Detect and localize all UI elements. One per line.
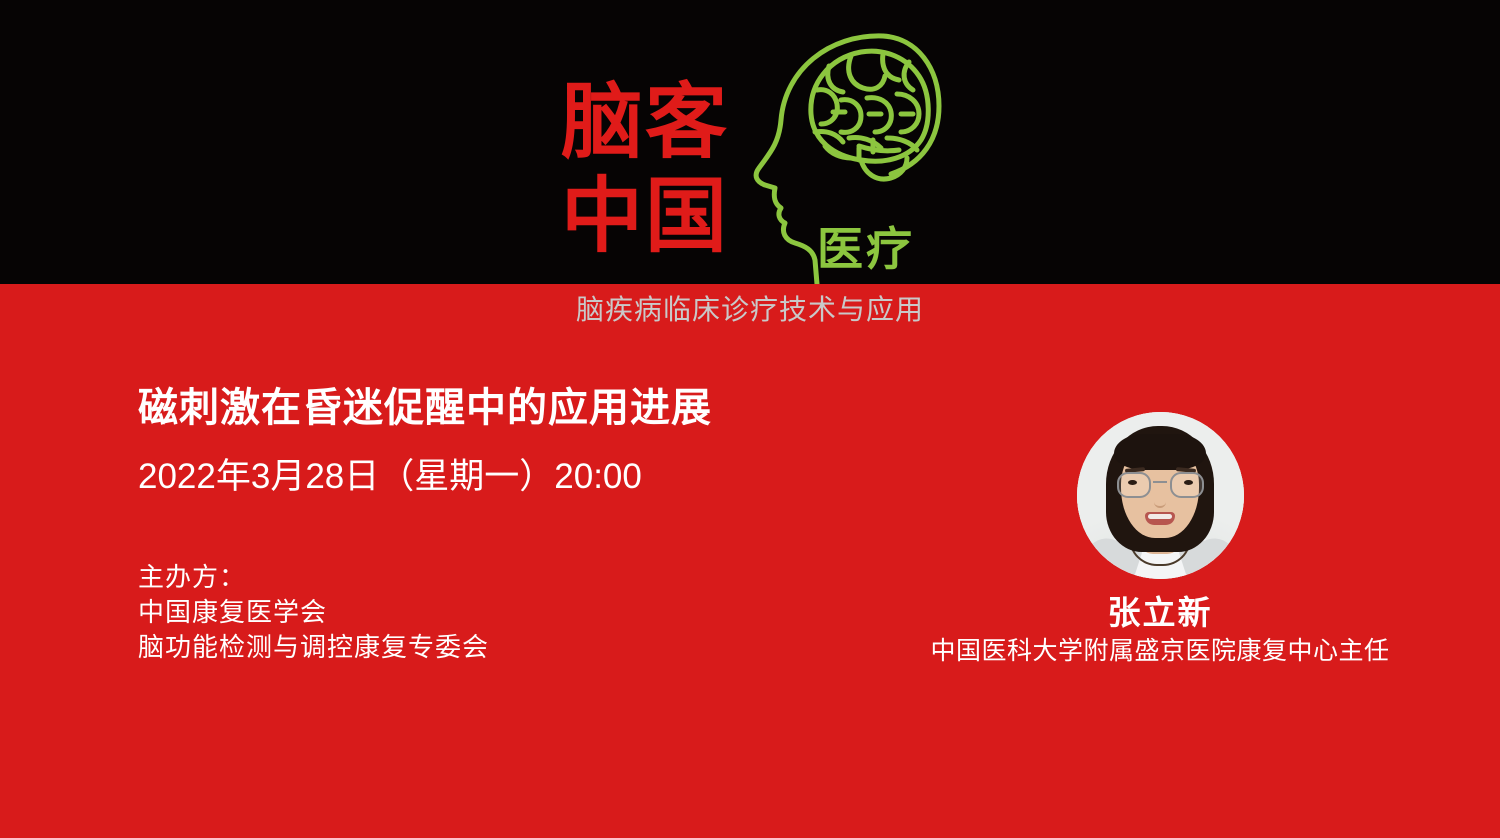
organizer-label: 主办方： (138, 560, 489, 595)
portrait-eyeglass-right (1170, 472, 1204, 498)
portrait-teeth (1148, 514, 1172, 519)
organizer-line-1: 中国康复医学会 (138, 595, 489, 630)
avatar (1077, 412, 1244, 579)
series-subtitle: 脑疾病临床诊疗技术与应用 (0, 292, 1500, 328)
brand-logo-lockup: 脑客 中国 (555, 28, 945, 284)
brand-word-line1: 脑客 (561, 80, 729, 166)
talk-datetime: 2022年3月28日（星期一）20:00 (138, 455, 642, 499)
speaker-name: 张立新 (900, 593, 1420, 633)
speaker-block: 张立新 中国医科大学附属盛京医院康复中心主任 (900, 412, 1420, 667)
brand-word-line2: 中国 (561, 174, 729, 260)
portrait-eyeglass-bridge (1153, 481, 1167, 483)
portrait-mouth (1145, 512, 1175, 525)
portrait-eye-right (1184, 480, 1193, 485)
portrait-eyeglass-left (1117, 472, 1151, 498)
organizer-block: 主办方： 中国康复医学会 脑功能检测与调控康复专委会 (138, 560, 489, 665)
portrait-fringe (1114, 434, 1206, 470)
talk-title: 磁刺激在昏迷促醒中的应用进展 (138, 384, 712, 432)
webinar-poster: 脑客 中国 (0, 0, 1500, 838)
speaker-affiliation: 中国医科大学附属盛京医院康复中心主任 (900, 635, 1420, 667)
organizer-line-2: 脑功能检测与调控康复专委会 (138, 630, 489, 665)
brand-category-label: 医疗 (817, 224, 915, 274)
portrait-eye-left (1128, 480, 1137, 485)
portrait-nose (1154, 496, 1166, 508)
